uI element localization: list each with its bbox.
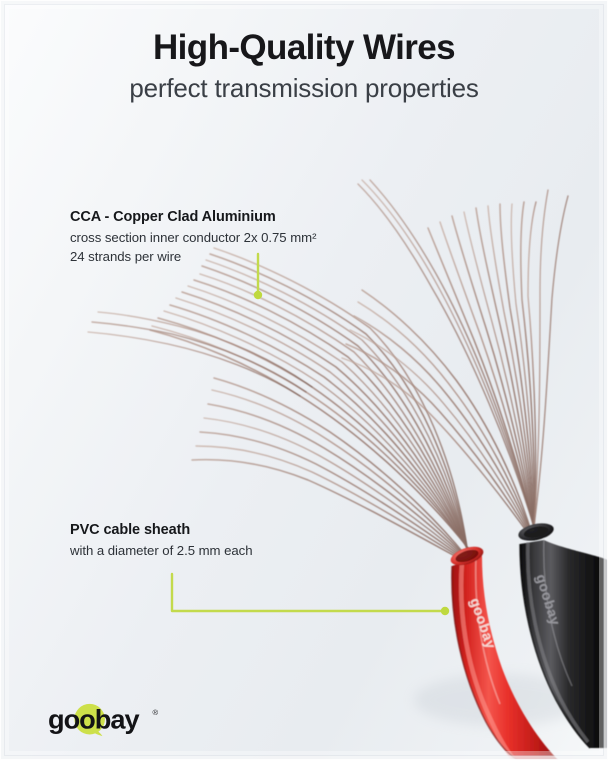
leader-line-pvc [160, 566, 460, 626]
logo-registered-mark: ® [153, 708, 159, 717]
annotation-pvc: PVC cable sheath with a diameter of 2.5 … [70, 521, 252, 560]
strand-bundle-red [88, 248, 468, 562]
page-subtitle: perfect transmission properties [0, 67, 608, 104]
page-title: High-Quality Wires [0, 0, 608, 67]
strand-bundle-black [342, 180, 568, 539]
header: High-Quality Wires perfect transmission … [0, 0, 608, 104]
annotation-cca: CCA - Copper Clad Aluminium cross sectio… [70, 208, 316, 266]
infographic-page: goobay goobay High-Quality Wires perfect… [0, 0, 608, 760]
logo-wordmark: goobay [48, 704, 139, 735]
annotation-pvc-line-1: with a diameter of 2.5 mm each [70, 541, 252, 560]
annotation-pvc-title: PVC cable sheath [70, 521, 252, 541]
annotation-cca-title: CCA - Copper Clad Aluminium [70, 208, 316, 228]
product-photo: goobay goobay [0, 0, 608, 760]
goobay-logo: goobay ® [48, 703, 176, 737]
annotation-cca-line-1: cross section inner conductor 2x 0.75 mm… [70, 228, 316, 247]
annotation-cca-line-2: 24 strands per wire [70, 247, 316, 266]
